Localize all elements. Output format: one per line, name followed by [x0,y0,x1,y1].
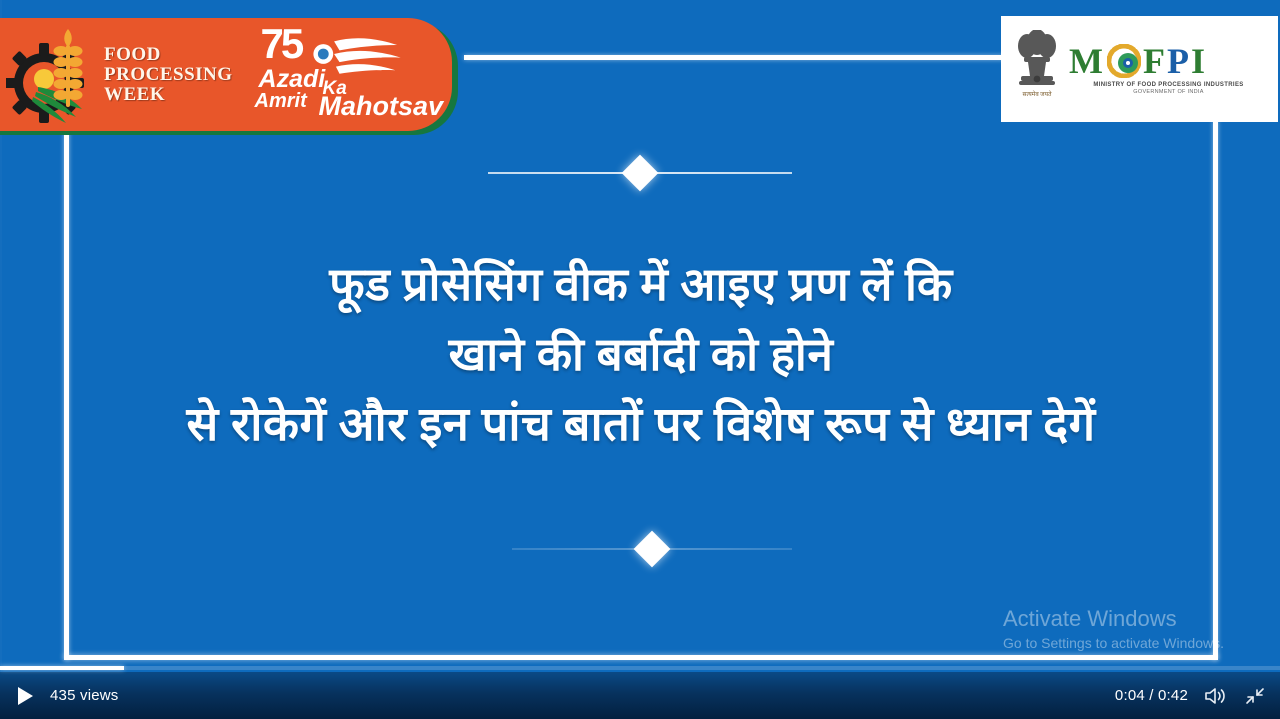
volume-icon [1204,686,1228,706]
gear-wheat-icon [6,25,102,125]
fpw-logo: FOOD PROCESSING WEEK [6,25,233,125]
fpw-line-3: WEEK [104,85,233,105]
exit-fullscreen-icon [1244,686,1266,706]
svg-text:सत्यमेव जयते: सत्यमेव जयते [1022,90,1052,98]
mofpi-letter-f: F [1143,43,1167,79]
progress-bar-played[interactable] [0,666,124,670]
headline-line-3: से रोकेगें और इन पांच बातों पर विशेष रूप… [64,390,1218,460]
fpw-wordmark: FOOD PROCESSING WEEK [104,45,233,105]
mofpi-letters: M F P I [1069,43,1268,79]
player-right-controls: 0:04 / 0:42 [1115,686,1280,706]
mofpi-wordmark: M F P I MINISTRY OF FOOD PROCESSING INDU… [1069,43,1268,95]
akam-mahotsav-text: Mahotsav [319,93,444,120]
akam-azadi-text: Azadi [259,67,326,92]
mofpi-subtitle-1: MINISTRY OF FOOD PROCESSING INDUSTRIES [1069,82,1268,88]
mofpi-letter-m: M [1069,43,1105,79]
mofpi-wheat-o-icon [1107,44,1141,78]
frame-border-bottom [64,655,1218,660]
headline-line-2: खाने की बर्बादी को होने [64,320,1218,390]
mofpi-letter-p: P [1167,43,1191,79]
fpw-line-2: PROCESSING [104,65,233,85]
diamond-icon [634,531,671,568]
activate-windows-watermark: Activate Windows Go to Settings to activ… [1003,606,1224,653]
ashoka-emblem-icon: सत्यमेव जयते [1011,30,1063,108]
watermark-title: Activate Windows [1003,606,1224,632]
watermark-subtitle: Go to Settings to activate Windows. [1003,634,1224,653]
mofpi-subtitle-2: GOVERNMENT OF INDIA [1069,89,1268,95]
timecode-display: 0:04 / 0:42 [1115,687,1188,704]
view-count: 435 views [50,687,119,704]
exit-fullscreen-button[interactable] [1244,686,1266,706]
video-slide: फूड प्रोसेसिंग वीक में आइए प्रण लें कि ख… [0,0,1280,672]
page-title: फूड प्रोसेसिंग वीक में आइए प्रण लें कि ख… [64,250,1218,460]
play-icon [18,687,33,705]
mofpi-letter-i: I [1191,43,1207,79]
divider-top [488,156,792,190]
frame-border-top [464,55,1004,60]
headline-line-1: फूड प्रोसेसिंग वीक में आइए प्रण लें कि [64,250,1218,320]
mofpi-logo-card: सत्यमेव जयते M F P I [1001,16,1278,122]
video-player[interactable]: फूड प्रोसेसिंग वीक में आइए प्रण लें कि ख… [0,0,1280,719]
akam-75-numeral: 75 [261,23,302,65]
fpw-line-1: FOOD [104,45,233,65]
azadi-ka-amrit-mahotsav-logo: 75 Azadi Ka Amrit Mahotsav [255,21,433,129]
player-control-bar[interactable]: 435 views 0:04 / 0:42 [0,672,1280,719]
progress-bar-track[interactable] [0,666,1280,670]
play-button[interactable] [12,683,38,709]
food-processing-week-banner: FOOD PROCESSING WEEK 75 Azadi K [0,18,452,131]
akam-amrit-text: Amrit [255,91,307,111]
diamond-icon [622,155,659,192]
volume-button[interactable] [1204,686,1228,706]
divider-bottom [512,532,792,566]
